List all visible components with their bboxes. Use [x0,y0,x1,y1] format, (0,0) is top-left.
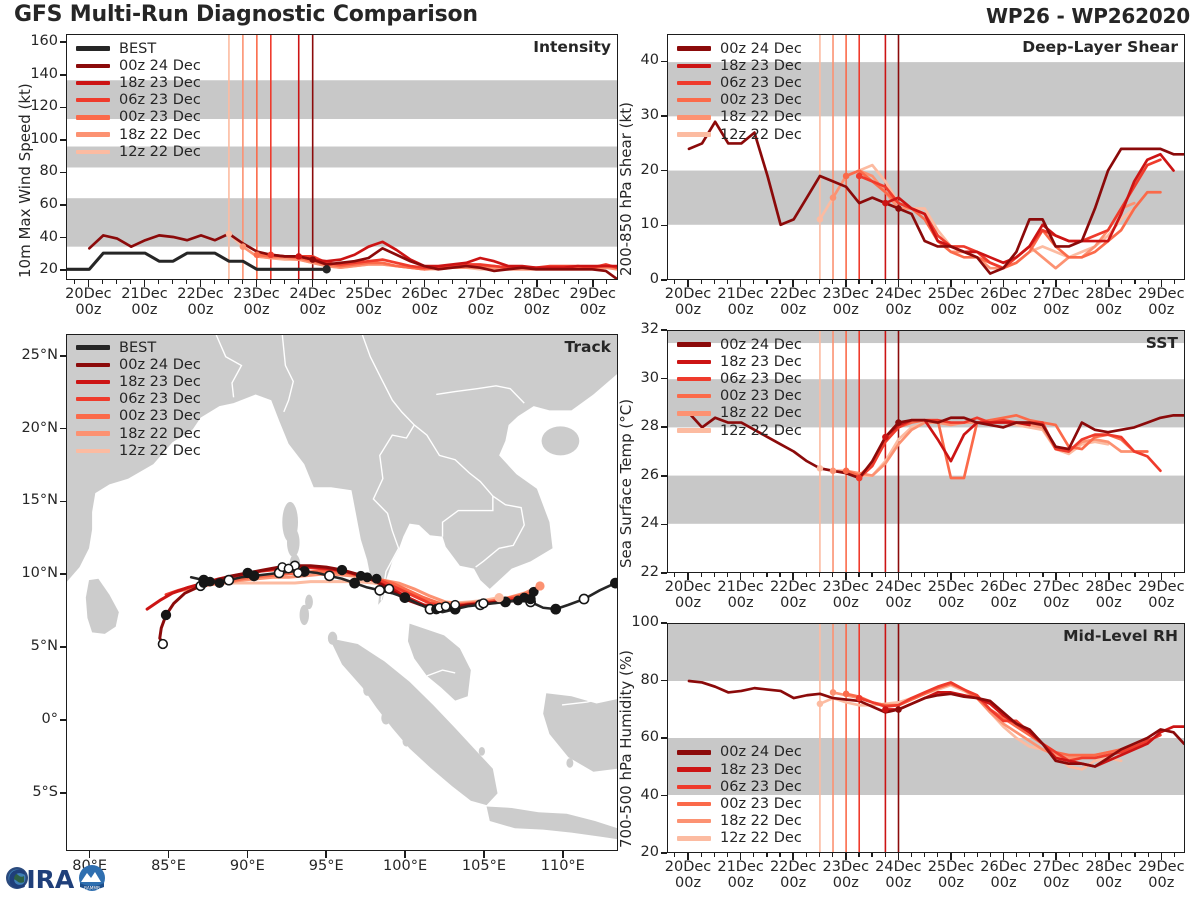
x-minor-tick [990,853,991,857]
intensity-panel-title: Intensity [533,38,611,56]
legend-label: 12z 22 Dec [119,443,201,459]
best-track-marker-filled [611,578,617,587]
legend-swatch-12z-22-dec [76,150,110,154]
x-minor-tick [340,280,341,284]
x-tick-mark [1161,280,1163,287]
y-tick-label: 0 [611,271,659,287]
x-minor-tick [727,573,728,577]
forecast-track-marker [520,593,528,601]
x-minor-tick [674,280,675,284]
run-start-marker [817,465,824,472]
forecast-track-marker [363,573,371,581]
x-tick-hour: 00z [675,875,701,891]
x-minor-tick [396,280,397,284]
legend-swatch-12z-22-dec [677,428,711,432]
x-minor-tick [674,853,675,857]
x-minor-tick [1069,853,1070,857]
legend-swatch-06z-23-dec [76,397,110,401]
legend-swatch-best [76,345,110,349]
x-tick-date: 29Dec [1138,859,1185,875]
legend-item: BEST [76,339,201,356]
track-y-tick-mark [60,792,66,794]
forecast-track-marker [158,640,167,649]
x-minor-tick [606,280,607,284]
cira-mountain-badge-icon: RAMMB [79,865,105,891]
x-minor-tick [1042,853,1043,857]
track-x-tick-label: 100°E [365,858,445,874]
legend-item: 00z 24 Dec [677,744,802,761]
shear-panel-title: Deep-Layer Shear [1022,38,1178,56]
x-tick-mark [536,280,538,287]
x-tick-date: 21Dec [121,286,168,302]
legend-item: 06z 23 Dec [677,370,802,387]
x-minor-tick [578,280,579,284]
legend-item: 18z 23 Dec [76,74,201,91]
x-tick-hour: 00z [991,595,1017,611]
legend-item: 12z 22 Dec [76,442,201,459]
forecast-track-marker [294,569,302,577]
x-minor-tick [1134,573,1135,577]
legend-swatch-00z-24-dec [677,750,711,754]
run-start-marker [254,251,261,258]
x-tick-mark [792,280,794,287]
legend-label: BEST [119,41,156,57]
track-y-tick-mark [60,719,66,721]
run-start-marker [309,256,316,263]
legend-item: 00z 23 Dec [677,795,802,812]
y-tick-label: 20 [611,162,659,178]
y-tick-mark [60,172,66,174]
legend-swatch-00z-23-dec [677,394,711,398]
x-minor-tick [1029,573,1030,577]
panel-rh[interactable]: Mid-Level RH 00z 24 Dec18z 23 Dec06z 23 … [667,623,1185,853]
x-tick-date: 20Dec [65,286,112,302]
track-y-tick-mark [60,428,66,430]
y-tick-label: 10 [611,216,659,232]
legend-swatch-00z-24-dec [677,342,711,346]
main-title: GFS Multi-Run Diagnostic Comparison [14,2,478,27]
x-minor-tick [924,573,925,577]
legend-item: 18z 22 Dec [76,126,201,143]
x-minor-tick [1082,280,1083,284]
legend-label: 18z 23 Dec [119,75,201,91]
x-minor-tick [1174,573,1175,577]
legend-swatch-18z-23-dec [677,64,711,68]
panel-shear[interactable]: Deep-Layer Shear 00z 24 Dec18z 23 Dec06z… [667,34,1185,280]
y-tick-mark [661,680,667,682]
run-start-marker [817,701,824,708]
sst-legend: 00z 24 Dec18z 23 Dec06z 23 Dec00z 23 Dec… [677,336,802,439]
x-minor-tick [1148,853,1149,857]
x-minor-tick [1082,853,1083,857]
x-tick-hour: 00z [728,302,754,318]
legend-swatch-00z-23-dec [76,414,110,418]
y-tick-label: 120 [10,98,58,114]
x-minor-tick [1134,280,1135,284]
x-tick-mark [368,280,370,287]
x-tick-date: 28Dec [513,286,560,302]
x-tick-label: 29Dec00z [557,286,629,318]
run-start-marker [268,251,275,258]
cira-logo-graphic: CIRA RAMMB [4,852,124,896]
x-minor-tick [1121,853,1122,857]
x-tick-label: 29Dec00z [1125,859,1197,891]
legend-item: 12z 22 Dec [677,830,802,847]
legend-label: 00z 24 Dec [720,41,802,57]
legend-label: 18z 22 Dec [720,405,802,421]
legend-label: 00z 23 Dec [720,92,802,108]
x-minor-tick [326,280,327,284]
legend-item: BEST [76,40,201,57]
legend-label: BEST [119,340,156,356]
shear-legend: 00z 24 Dec18z 23 Dec06z 23 Dec00z 23 Dec… [677,40,802,143]
x-minor-tick [508,280,509,284]
legend-item: 06z 23 Dec [677,74,802,91]
run-start-marker [240,243,247,250]
x-minor-tick [74,280,75,284]
x-minor-tick [438,280,439,284]
panel-sst[interactable]: SST 00z 24 Dec18z 23 Dec06z 23 Dec00z 23… [667,330,1185,573]
track-x-tick-mark [325,851,327,858]
best-track-marker-filled [350,578,359,587]
run-start-marker [882,200,889,207]
x-tick-hour: 00z [300,302,326,318]
legend-item: 18z 22 Dec [677,813,802,830]
y-tick-label: 160 [10,33,58,49]
x-minor-tick [924,280,925,284]
legend-label: 18z 23 Dec [119,374,201,390]
forecast-track-marker [385,584,394,593]
x-tick-hour: 00z [675,595,701,611]
legend-label: 06z 23 Dec [720,371,802,387]
x-tick-mark [1161,573,1163,580]
x-minor-tick [832,280,833,284]
x-tick-hour: 00z [187,302,213,318]
y-tick-label: 40 [611,52,659,68]
x-tick-mark [687,573,689,580]
x-tick-mark [1055,853,1057,860]
legend-label: 18z 23 Dec [720,58,802,74]
y-tick-mark [661,795,667,797]
x-tick-hour: 00z [468,302,494,318]
x-minor-tick [885,280,886,284]
track-y-tick-label: 5°N [4,638,58,654]
x-tick-mark [1108,280,1110,287]
track-y-tick-label: 25°N [4,347,58,363]
x-minor-tick [102,280,103,284]
x-minor-tick [832,573,833,577]
x-minor-tick [779,280,780,284]
legend-swatch-18z-23-dec [677,360,711,364]
x-minor-tick [1148,573,1149,577]
run-start-marker [843,468,850,475]
y-tick-label: 60 [611,729,659,745]
x-tick-mark [792,573,794,580]
x-tick-hour: 00z [1043,302,1069,318]
x-minor-tick [727,280,728,284]
small-island-5 [479,747,485,756]
y-tick-mark [60,139,66,141]
run-start-marker [817,216,824,223]
forecast-track-marker [338,566,347,575]
legend-label: 18z 22 Dec [119,426,201,442]
x-tick-hour: 00z [938,875,964,891]
x-minor-tick [1082,573,1083,577]
x-minor-tick [1095,280,1096,284]
legend-label: 18z 22 Dec [720,813,802,829]
legend-swatch-00z-23-dec [677,802,711,806]
x-minor-tick [1174,853,1175,857]
x-tick-hour: 00z [1043,875,1069,891]
x-minor-tick [885,853,886,857]
x-tick-hour: 00z [780,875,806,891]
x-minor-tick [701,280,702,284]
legend-item: 06z 23 Dec [76,92,201,109]
run-start-marker [882,434,889,441]
x-tick-hour: 00z [356,302,382,318]
y-tick-label: 22 [611,564,659,580]
x-tick-mark [1161,853,1163,860]
y-tick-label: 32 [611,321,659,337]
x-minor-tick [832,853,833,857]
y-tick-mark [661,115,667,117]
run-start-marker [830,689,837,696]
x-tick-mark [950,573,952,580]
x-minor-tick [871,280,872,284]
y-tick-mark [661,737,667,739]
x-minor-tick [1095,573,1096,577]
legend-label: 00z 23 Dec [119,109,201,125]
best-endpoint-marker [322,265,330,273]
forecast-track-marker [243,569,252,578]
legend-label: 18z 23 Dec [720,354,802,370]
run-start-marker [830,194,837,201]
x-tick-date: 26Dec [401,286,448,302]
y-tick-label: 60 [10,196,58,212]
y-tick-mark [60,237,66,239]
x-tick-mark [480,280,482,287]
small-island-1 [363,685,371,696]
x-tick-mark [88,280,90,287]
legend-item: 00z 23 Dec [76,408,201,425]
x-minor-tick [130,280,131,284]
legend-item: 00z 23 Dec [677,92,802,109]
track-x-tick-label: 105°E [444,858,524,874]
x-tick-hour: 00z [938,595,964,611]
x-tick-hour: 00z [780,595,806,611]
x-tick-mark [740,280,742,287]
small-island-0 [328,632,337,645]
rh-legend: 00z 24 Dec18z 23 Dec06z 23 Dec00z 23 Dec… [677,744,802,847]
x-minor-tick [382,280,383,284]
x-tick-mark [312,280,314,287]
x-tick-mark [1055,573,1057,580]
x-minor-tick [714,573,715,577]
track-y-tick-label: 5°S [4,784,58,800]
x-minor-tick [1042,280,1043,284]
x-minor-tick [977,573,978,577]
x-tick-date: 23Dec [233,286,280,302]
legend-item: 00z 24 Dec [76,57,201,74]
x-minor-tick [806,853,807,857]
x-minor-tick [858,853,859,857]
legend-swatch-06z-23-dec [677,785,711,789]
x-minor-tick [937,573,938,577]
x-minor-tick [753,280,754,284]
x-minor-tick [522,280,523,284]
forecast-track-marker [451,601,459,609]
x-minor-tick [172,280,173,284]
x-tick-mark [424,280,426,287]
x-minor-tick [1016,573,1017,577]
track-legend: BEST00z 24 Dec18z 23 Dec06z 23 Dec00z 23… [76,339,201,459]
x-tick-hour: 00z [991,875,1017,891]
track-x-tick-mark [168,851,170,858]
legend-label: 00z 23 Dec [119,408,201,424]
legend-swatch-06z-23-dec [76,98,110,102]
x-minor-tick [284,280,285,284]
y-tick-mark [661,378,667,380]
x-minor-tick [779,573,780,577]
legend-label: 12z 22 Dec [720,830,802,846]
legend-swatch-00z-23-dec [76,115,110,119]
track-y-tick-label: 0° [4,711,58,727]
panel-track[interactable]: Track BEST00z 24 Dec18z 23 Dec06z 23 Dec… [66,334,618,851]
x-tick-hour: 00z [1096,875,1122,891]
y-tick-label: 24 [611,515,659,531]
track-x-tick-label: 95°E [286,858,366,874]
cira-wordmark: CIRA [8,865,75,894]
x-minor-tick [1069,573,1070,577]
x-tick-mark [1003,853,1005,860]
track-x-tick-label: 90°E [207,858,287,874]
forecast-track-marker [215,579,223,587]
track-x-tick-mark [562,851,564,858]
run-start-marker [856,173,863,180]
run-start-marker [295,253,302,260]
x-tick-hour: 00z [885,302,911,318]
run-start-marker [226,230,233,237]
x-minor-tick [242,280,243,284]
legend-label: 00z 24 Dec [720,744,802,760]
x-minor-tick [1029,280,1030,284]
y-tick-label: 80 [611,672,659,688]
rh-panel-title: Mid-Level RH [1063,627,1178,645]
x-minor-tick [911,573,912,577]
figure-root: GFS Multi-Run Diagnostic Comparison WP26… [0,0,1200,900]
x-minor-tick [701,573,702,577]
legend-label: 18z 23 Dec [720,762,802,778]
x-minor-tick [714,853,715,857]
x-minor-tick [354,280,355,284]
legend-swatch-00z-24-dec [76,363,110,367]
legend-item: 00z 23 Dec [677,388,802,405]
legend-label: 18z 22 Dec [119,127,201,143]
x-tick-date: 29Dec [1138,286,1185,302]
track-x-tick-label: 110°E [523,858,603,874]
x-minor-tick [924,853,925,857]
x-tick-mark [687,280,689,287]
x-minor-tick [937,280,938,284]
x-tick-mark [592,280,594,287]
x-minor-tick [964,853,965,857]
x-minor-tick [494,280,495,284]
legend-label: 06z 23 Dec [119,92,201,108]
legend-swatch-18z-23-dec [76,380,110,384]
best-track-marker-filled [400,593,409,602]
y-tick-mark [60,204,66,206]
legend-item: 06z 23 Dec [76,391,201,408]
x-minor-tick [871,853,872,857]
legend-item: 18z 23 Dec [76,373,201,390]
best-track-marker-filled [551,605,560,614]
run-start-marker [882,706,889,713]
x-minor-tick [1121,573,1122,577]
x-minor-tick [779,853,780,857]
legend-item: 12z 22 Dec [677,422,802,439]
legend-swatch-00z-24-dec [76,64,110,68]
legend-label: 06z 23 Dec [720,75,802,91]
legend-swatch-18z-22-dec [76,431,110,435]
x-minor-tick [186,280,187,284]
x-tick-hour: 00z [728,875,754,891]
x-tick-mark [1055,280,1057,287]
track-x-tick-mark [404,851,406,858]
legend-item: 00z 24 Dec [76,356,201,373]
x-tick-hour: 00z [1148,595,1174,611]
x-minor-tick [270,280,271,284]
track-x-tick-label: 85°E [129,858,209,874]
x-tick-mark [1108,853,1110,860]
x-minor-tick [858,573,859,577]
legend-item: 12z 22 Dec [677,126,802,143]
track-y-tick-mark [60,573,66,575]
x-tick-hour: 00z [938,302,964,318]
panel-intensity[interactable]: Intensity BEST00z 24 Dec18z 23 Dec06z 23… [66,34,618,280]
x-tick-hour: 00z [244,302,270,318]
y-tick-mark [661,572,667,574]
x-tick-label: 29Dec00z [1125,286,1197,318]
run-start-marker [830,468,837,475]
x-tick-hour: 00z [1148,302,1174,318]
track-y-tick-mark [60,646,66,648]
legend-item: 18z 23 Dec [677,353,802,370]
legend-swatch-12z-22-dec [677,836,711,840]
x-tick-label: 29Dec00z [1125,579,1197,611]
forecast-track-marker [479,599,488,608]
legend-item: 12z 22 Dec [76,143,201,160]
x-minor-tick [885,573,886,577]
x-tick-mark [1003,573,1005,580]
x-minor-tick [1174,280,1175,284]
x-tick-hour: 00z [524,302,550,318]
track-endpoint-marker [535,581,544,590]
storm-id-title: WP26 - WP262020 [986,4,1190,28]
run-start-marker [856,475,863,482]
x-tick-mark [740,853,742,860]
x-tick-hour: 00z [885,595,911,611]
legend-label: 12z 22 Dec [720,127,802,143]
x-minor-tick [1016,280,1017,284]
x-tick-mark [845,573,847,580]
legend-swatch-06z-23-dec [677,81,711,85]
shear-y-axis-label: 200-850 hPa Shear (kt) [617,102,635,276]
x-minor-tick [819,280,820,284]
track-x-tick-mark [483,851,485,858]
track-panel-title: Track [565,338,611,356]
x-minor-tick [871,573,872,577]
x-minor-tick [1029,853,1030,857]
